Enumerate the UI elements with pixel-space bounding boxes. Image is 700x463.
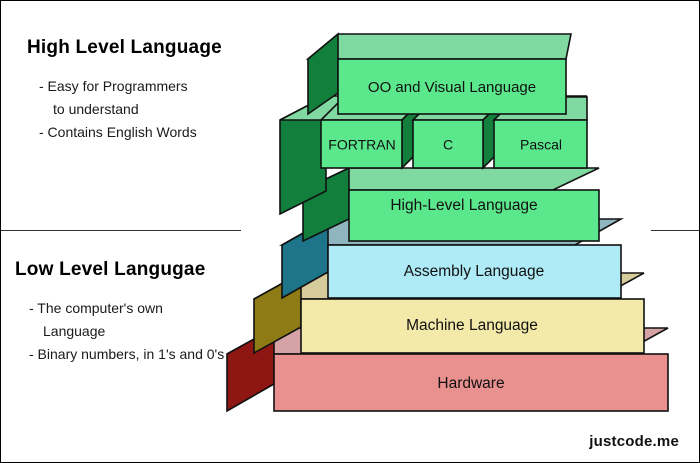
language-level-pyramid: Hardware Machine Language Assembly Langu… <box>1 1 700 463</box>
assembly-language-label: Assembly Language <box>404 263 544 280</box>
pascal-label: Pascal <box>520 137 562 153</box>
c-label: C <box>443 137 453 153</box>
oo-visual-top-face <box>308 34 571 59</box>
hardware-label: Hardware <box>437 375 504 392</box>
diagram-canvas: High Level Language - Easy for Programme… <box>0 0 700 463</box>
high-level-language-label: High-Level Language <box>390 197 537 214</box>
oo-visual-language-label: OO and Visual Language <box>368 79 536 96</box>
fortran-label: FORTRAN <box>328 137 395 153</box>
machine-language-label: Machine Language <box>406 317 538 334</box>
watermark-justcode: justcode.me <box>589 433 679 450</box>
layer-oo-visual-language: OO and Visual Language <box>308 34 571 114</box>
